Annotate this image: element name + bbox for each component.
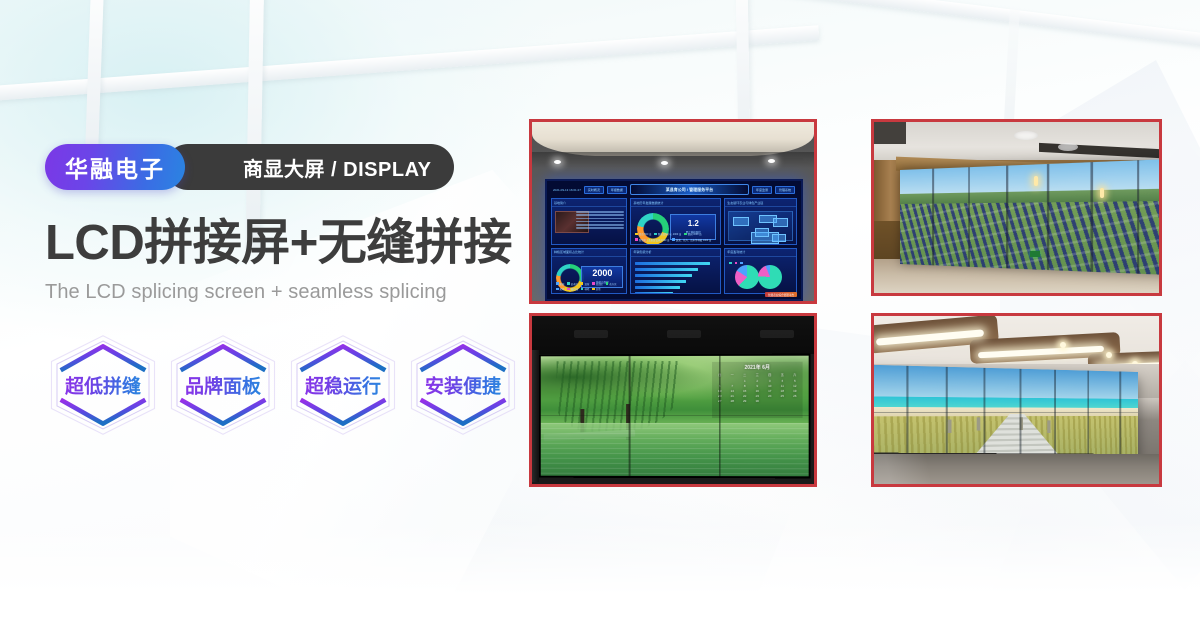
legend-item: 蔬菜、花卉、苗木等种植 1000 亩 bbox=[672, 238, 711, 242]
legend-item: 智慧化工及配套设施 4000 亩 bbox=[635, 238, 669, 242]
legend-item: 果园 bbox=[556, 282, 564, 286]
legend-item: 花卉区 bbox=[606, 282, 617, 286]
card-header: 基地简介 bbox=[552, 199, 626, 207]
card-header: 生态循环农业与绿色产业链 bbox=[725, 199, 796, 207]
panel-seams bbox=[900, 158, 1159, 275]
ceiling-spotlight bbox=[768, 159, 775, 163]
feature-label: 品牌面板 bbox=[185, 371, 261, 398]
legend-item bbox=[735, 262, 738, 265]
legend-item: 智能温室中心 2000 亩 bbox=[654, 232, 681, 236]
bezel-reflection bbox=[760, 330, 794, 338]
promo-banner: 商显大屏 / DISPLAY 华融电子 LCD拼接屏+无缝拼接 The LCD … bbox=[0, 0, 1200, 640]
category-pill: 商显大屏 / DISPLAY bbox=[165, 144, 454, 190]
page-title: LCD拼接屏+无缝拼接 bbox=[45, 218, 525, 270]
dashboard-screen: 2021-09-13 16:01:27 实时概况 年报数据 某县育公司 / 管理… bbox=[545, 179, 803, 301]
dashboard-nav-item[interactable]: 管理系统 bbox=[775, 186, 795, 194]
legend-item: 藏药园 bbox=[567, 287, 578, 291]
chart-legend: 育苗 500 亩 智能温室中心 2000 亩 果园 1000 亩 智慧化工及配套… bbox=[635, 232, 717, 242]
background-floor-fade bbox=[0, 520, 1200, 640]
kpi-value: 2000 bbox=[592, 269, 612, 278]
video-content-willow-lake: 2021年 6月 日 一 二 三 四 五 六 bbox=[541, 356, 809, 477]
ceiling-spotlight bbox=[661, 161, 668, 165]
dashboard-card-intro: 基地简介 bbox=[551, 198, 627, 245]
card-header: 年度盈利统计 bbox=[725, 249, 796, 257]
ceiling-dark-panel bbox=[874, 122, 906, 144]
gallery-photo-willow-lake-wall[interactable]: 2021年 6月 日 一 二 三 四 五 六 bbox=[529, 313, 817, 487]
dashboard-grid: 基地简介 基地历年发展数据统计 1.2 累计种植面积 bbox=[551, 198, 797, 294]
chart-legend bbox=[729, 262, 793, 265]
feature-item-1[interactable]: 超低拼缝 bbox=[45, 330, 161, 440]
legend-item: 菜地 bbox=[556, 287, 564, 291]
wall-lamp bbox=[1100, 188, 1104, 198]
downlight bbox=[1060, 342, 1066, 348]
legend-item: 苗木区 bbox=[567, 282, 578, 286]
feature-item-2[interactable]: 品牌面板 bbox=[165, 330, 281, 440]
ceiling-spotlight bbox=[554, 160, 561, 164]
feature-list: 超低拼缝 品牌面板 bbox=[45, 330, 525, 440]
dashboard-title: 某县育公司 / 管理服务平台 bbox=[630, 184, 749, 195]
kpi-value: 1.2 bbox=[688, 220, 699, 228]
legend-item bbox=[729, 262, 732, 265]
legend-item: 林地 bbox=[581, 287, 589, 291]
pie-chart bbox=[758, 265, 782, 289]
legend-item: 果园 1000 亩 bbox=[684, 232, 701, 236]
legend-item: 其他 bbox=[592, 287, 600, 291]
gallery-photo-lobby-beach-wall[interactable] bbox=[871, 313, 1162, 487]
feature-label: 超低拼缝 bbox=[65, 371, 141, 398]
card-header: 种植区域面积占比统计 bbox=[552, 249, 626, 257]
pie-chart bbox=[735, 265, 759, 289]
ceiling-cove bbox=[532, 122, 814, 156]
intro-text-lines bbox=[576, 211, 624, 231]
video-wall-beach bbox=[874, 364, 1138, 465]
video-wall-willow: 2021年 6月 日 一 二 三 四 五 六 bbox=[539, 354, 811, 479]
dashboard-card-ecochain: 生态循环农业与绿色产业链 bbox=[724, 198, 797, 245]
card-header: 基地历年发展数据统计 bbox=[631, 199, 720, 207]
dashboard-nav-item[interactable]: 实时概况 bbox=[584, 186, 604, 194]
dashboard-card-history: 基地历年发展数据统计 1.2 累计种植面积 育苗 500 亩 智能温室中心 20… bbox=[630, 198, 721, 245]
dashboard-card-sales: 年销售额分析 bbox=[630, 248, 721, 295]
ceiling-vent bbox=[1058, 143, 1078, 151]
dashboard-nav-item[interactable]: 年报数据 bbox=[607, 186, 627, 194]
dashboard-topbar: 2021-09-13 16:01:27 实时概况 年报数据 某县育公司 / 管理… bbox=[550, 183, 798, 196]
dashboard-card-profit: 年度盈利统计 bbox=[724, 248, 797, 295]
dashboard-card-area-share: 种植区域面积占比统计 2000 种植总面积 果园 苗木区 温室 育苗区 花卉区 bbox=[551, 248, 627, 295]
feature-item-4[interactable]: 安装便捷 bbox=[405, 330, 521, 440]
brand-pill-row: 商显大屏 / DISPLAY 华融电子 bbox=[45, 144, 525, 190]
exit-sign-icon bbox=[1030, 251, 1040, 257]
ceiling-vent bbox=[1014, 131, 1038, 140]
chart-legend: 果园 苗木区 温室 育苗区 花卉区 菜地 藏药园 林地 其他 bbox=[556, 282, 623, 292]
gallery-photo-control-room[interactable]: 2021-09-13 16:01:27 实时概况 年报数据 某县育公司 / 管理… bbox=[529, 119, 817, 304]
dashboard-footer-tag: 智慧农业综合管理平台 bbox=[765, 292, 797, 297]
feature-item-3[interactable]: 超稳运行 bbox=[285, 330, 401, 440]
card-header: 年销售额分析 bbox=[631, 249, 720, 257]
panel-seams bbox=[541, 356, 809, 477]
brand-name: 华融电子 bbox=[65, 150, 165, 184]
bar-chart bbox=[635, 262, 716, 292]
headline-column: 商显大屏 / DISPLAY 华融电子 LCD拼接屏+无缝拼接 The LCD … bbox=[45, 144, 525, 440]
category-label: 商显大屏 / DISPLAY bbox=[243, 153, 432, 182]
panel-seams bbox=[874, 364, 1138, 465]
downlight bbox=[1106, 352, 1112, 358]
feature-label: 安装便捷 bbox=[425, 371, 501, 398]
feature-label: 超稳运行 bbox=[305, 371, 381, 398]
legend-item bbox=[740, 262, 743, 265]
dashboard-date: 2021-09-13 16:01:27 bbox=[553, 188, 581, 192]
flow-diagram bbox=[728, 211, 793, 241]
wall-top-bezel bbox=[532, 316, 814, 354]
legend-item: 育苗区 bbox=[592, 282, 603, 286]
bezel-reflection bbox=[574, 330, 608, 338]
legend-item: 育苗 500 亩 bbox=[635, 232, 651, 236]
brand-pill: 华融电子 bbox=[45, 144, 185, 190]
dashboard-nav-item[interactable]: 年度监测 bbox=[752, 186, 772, 194]
legend-item: 温室 bbox=[581, 282, 589, 286]
lobby-floor bbox=[874, 454, 1159, 484]
video-wall-solar bbox=[900, 158, 1159, 275]
gallery-photo-corridor-solar-wall[interactable] bbox=[871, 119, 1162, 296]
bezel-reflection bbox=[667, 330, 701, 338]
wall-lamp bbox=[1034, 176, 1038, 186]
page-subtitle: The LCD splicing screen + seamless splic… bbox=[45, 281, 525, 304]
